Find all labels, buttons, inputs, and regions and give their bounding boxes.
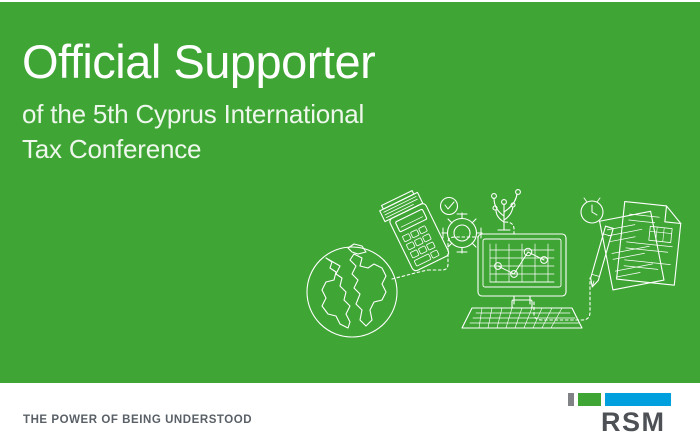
page-subtitle-line-2: Tax Conference <box>22 132 492 167</box>
page-subtitle: of the 5th Cyprus International Tax Conf… <box>22 97 492 167</box>
illustration-group <box>300 182 690 362</box>
slide-canvas: Official Supporter of the 5th Cyprus Int… <box>0 0 700 425</box>
calculator-icon <box>378 188 450 274</box>
dashed-connector <box>392 222 590 320</box>
footer-bar: THE POWER OF BEING UNDERSTOOD RSM <box>0 383 700 425</box>
rsm-logo: RSM <box>568 393 688 436</box>
logo-bar-gray <box>568 393 574 406</box>
clock-icon <box>581 198 603 223</box>
rsm-logo-bars <box>568 393 688 406</box>
page-subtitle-line-1: of the 5th Cyprus International <box>22 97 492 132</box>
brand-tagline: THE POWER OF BEING UNDERSTOOD <box>23 414 252 426</box>
monitor-chart-icon <box>478 234 566 308</box>
page-title: Official Supporter <box>22 36 492 88</box>
hero-panel: Official Supporter of the 5th Cyprus Int… <box>0 2 700 383</box>
keyboard-icon <box>462 308 582 328</box>
sprout-circuit-icon <box>492 190 521 230</box>
rsm-logo-wordmark: RSM <box>568 409 688 436</box>
logo-bar-green <box>578 393 601 406</box>
globe-icon <box>307 244 397 337</box>
chart-line <box>495 248 548 277</box>
documents-icon <box>600 202 683 290</box>
checkmark-badge-icon <box>441 198 458 215</box>
gear-icon <box>442 213 482 253</box>
headline-block: Official Supporter of the 5th Cyprus Int… <box>22 36 492 167</box>
logo-bar-blue <box>605 393 671 406</box>
